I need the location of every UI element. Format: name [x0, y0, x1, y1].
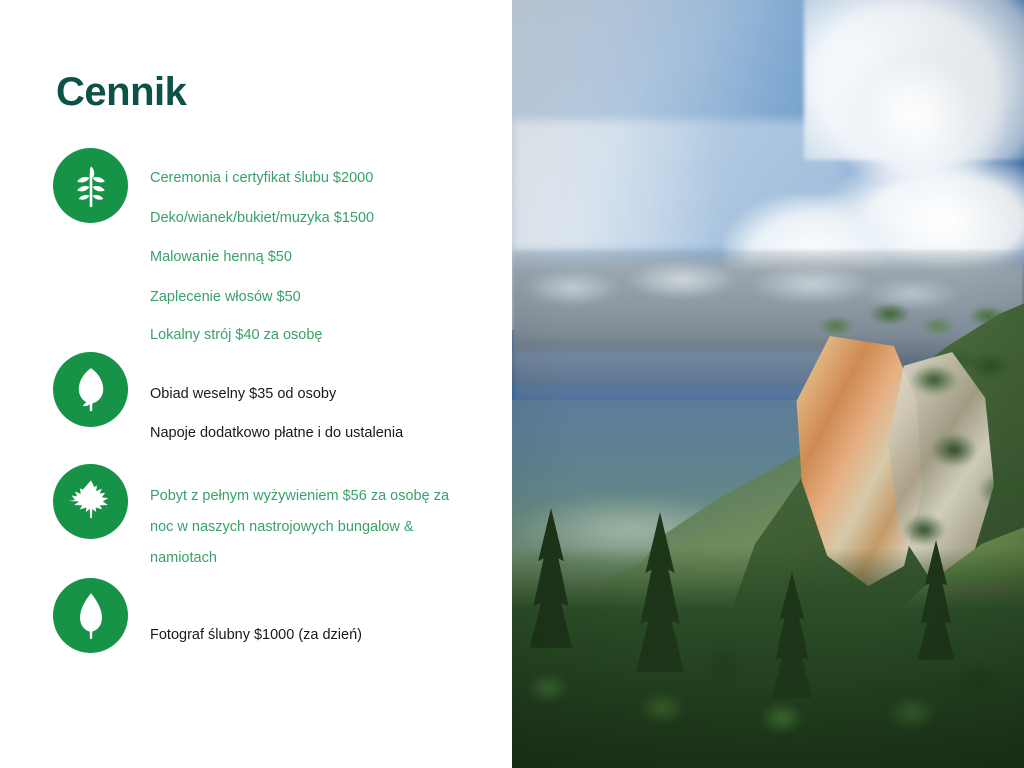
broad-leaf-icon [53, 352, 128, 427]
escarpment-landscape-photo [512, 0, 1024, 768]
list-item: Lokalny strój $40 za osobę [150, 322, 323, 348]
pricing-slide: Cennik [0, 0, 1024, 768]
list-item: Obiad weselny $35 od osoby [150, 381, 336, 407]
pointed-leaf-icon [53, 578, 128, 653]
list-item: Malowanie henną $50 [150, 244, 292, 270]
pointed-leaf-glyph [65, 590, 117, 642]
broad-leaf-glyph [65, 364, 117, 416]
price-list: Ceremonia i certyfikat ślubu $2000 Deko/… [150, 0, 490, 768]
list-item: Napoje dodatkowo płatne i do ustalenia [150, 420, 403, 446]
list-item: Pobyt z pełnym wyżywieniem $56 za osobę … [150, 481, 470, 574]
maple-leaf-icon [53, 464, 128, 539]
photo-vignette [512, 0, 1024, 768]
list-item: Ceremonia i certyfikat ślubu $2000 [150, 165, 373, 191]
list-item: Zaplecenie włosów $50 [150, 284, 301, 310]
content-panel: Cennik [0, 0, 512, 768]
list-item: Fotograf ślubny $1000 (za dzień) [150, 622, 362, 648]
branch-leaves-glyph [65, 160, 117, 212]
list-item: Deko/wianek/bukiet/muzyka $1500 [150, 205, 374, 231]
maple-leaf-glyph [65, 476, 117, 528]
branch-leaves-icon [53, 148, 128, 223]
